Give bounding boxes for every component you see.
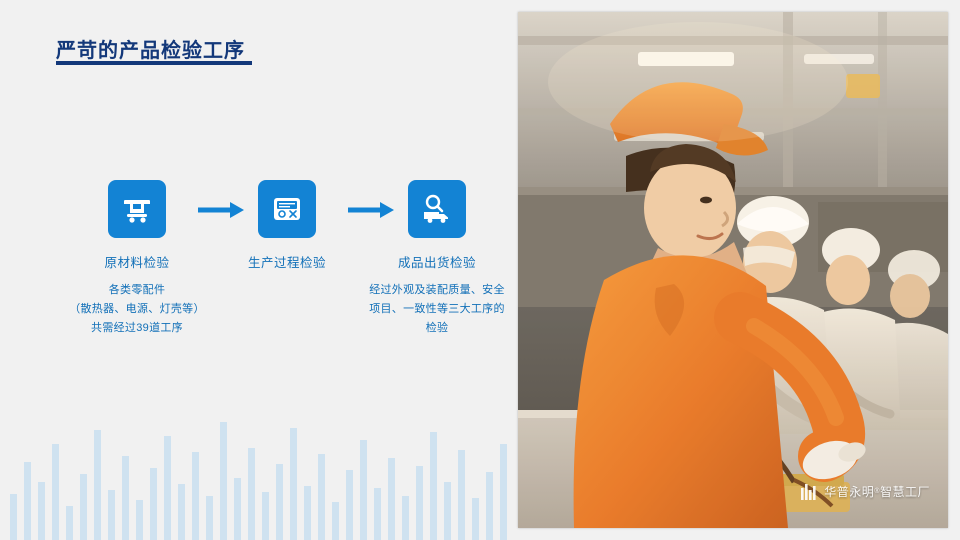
production-monitor-icon: [258, 180, 316, 238]
flow-step-desc-line: 检验: [362, 319, 512, 338]
title-underline: [56, 61, 252, 65]
flow-step-raw-material[interactable]: 原材料检验 各类零配件 （散热器、电源、灯壳等） 共需经过39道工序: [62, 180, 212, 338]
equalizer-bars-decoration: [0, 390, 520, 540]
flow-step-desc-line: 项目、一致性等三大工序的: [362, 300, 512, 319]
flow-step-label: 成品出货检验: [362, 252, 512, 271]
watermark-brand: 华普永明: [824, 483, 874, 500]
flow-step-label: 生产过程检验: [212, 252, 362, 271]
flow-step-shipping[interactable]: 成品出货检验 经过外观及装配质量、安全 项目、一致性等三大工序的 检验: [362, 180, 512, 338]
raw-material-cart-icon: [108, 180, 166, 238]
logo-mark-icon: [801, 484, 819, 500]
flow-step-label: 原材料检验: [62, 252, 212, 271]
flow-step-desc-line: 各类零配件: [62, 281, 212, 300]
flow-step-desc: 各类零配件 （散热器、电源、灯壳等） 共需经过39道工序: [62, 281, 212, 338]
flow-step-desc-line: 共需经过39道工序: [62, 319, 212, 338]
flow-step-desc-line: 经过外观及装配质量、安全: [362, 281, 512, 300]
flow-step-desc: 经过外观及装配质量、安全 项目、一致性等三大工序的 检验: [362, 281, 512, 338]
photo-watermark: 华普永明 ® 智慧工厂: [801, 483, 930, 500]
shipping-inspection-icon: [408, 180, 466, 238]
flow-step-desc-line: （散热器、电源、灯壳等）: [62, 300, 212, 319]
slide-canvas: 严苛的产品检验工序: [0, 0, 960, 540]
factory-photo: 华普永明 ® 智慧工厂: [518, 12, 948, 528]
flow-step-production[interactable]: 生产过程检验: [212, 180, 362, 271]
page-title: 严苛的产品检验工序: [56, 34, 245, 63]
watermark-suffix: 智慧工厂: [880, 483, 930, 500]
process-flow: 原材料检验 各类零配件 （散热器、电源、灯壳等） 共需经过39道工序: [40, 180, 500, 380]
